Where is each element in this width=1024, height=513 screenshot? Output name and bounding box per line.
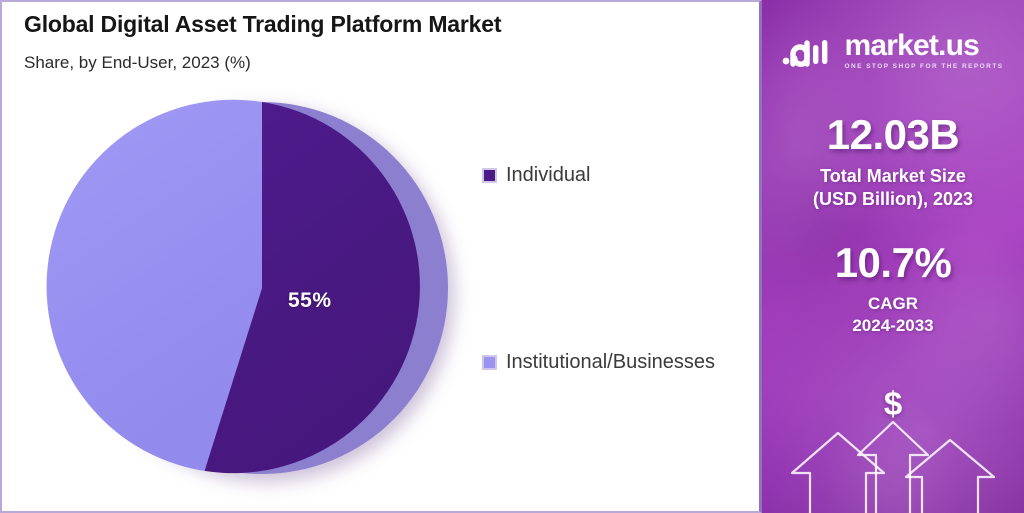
market-size-caption-line1: Total Market Size: [820, 166, 966, 186]
cagr-value: 10.7%: [762, 241, 1024, 285]
pie-slice-value-label: 55%: [288, 289, 332, 313]
legend-swatch-institutional: [482, 355, 497, 370]
market-us-logo-icon: [782, 34, 836, 68]
market-size-caption: Total Market Size (USD Billion), 2023: [762, 165, 1024, 211]
logo-text-block: market.us ONE STOP SHOP FOR THE REPORTS: [844, 31, 1003, 71]
legend-item-individual[interactable]: Individual: [482, 165, 591, 185]
legend-swatch-individual: [482, 168, 497, 183]
legend-item-label: Individual: [506, 165, 591, 185]
market-size-stat: 12.03B Total Market Size (USD Billion), …: [762, 113, 1024, 211]
stats-panel: market.us ONE STOP SHOP FOR THE REPORTS …: [762, 0, 1024, 513]
market-size-value: 12.03B: [762, 113, 1024, 157]
pie-svg: [75, 101, 449, 475]
logo-tagline: ONE STOP SHOP FOR THE REPORTS: [844, 64, 1003, 71]
upward-arrows-icon: [762, 385, 1024, 513]
logo-wordmark: market.us: [844, 31, 979, 61]
cagr-caption-line1: CAGR: [868, 294, 918, 313]
chart-legend: Individual Institutional/Businesses: [482, 2, 762, 513]
legend-item-institutional[interactable]: Institutional/Businesses: [482, 352, 715, 372]
legend-item-label: Institutional/Businesses: [506, 352, 715, 372]
growth-arrows-artwork: $: [762, 385, 1024, 513]
cagr-caption-line2: 2024-2033: [852, 316, 933, 335]
cagr-stat: 10.7% CAGR 2024-2033: [762, 241, 1024, 337]
pie-chart: 55%: [75, 101, 449, 475]
market-report-infographic: Global Digital Asset Trading Platform Ma…: [0, 0, 1024, 513]
chart-card: Global Digital Asset Trading Platform Ma…: [0, 0, 762, 513]
market-size-caption-line2: (USD Billion), 2023: [813, 189, 973, 209]
cagr-caption: CAGR 2024-2033: [762, 293, 1024, 337]
brand-logo[interactable]: market.us ONE STOP SHOP FOR THE REPORTS: [762, 31, 1024, 71]
